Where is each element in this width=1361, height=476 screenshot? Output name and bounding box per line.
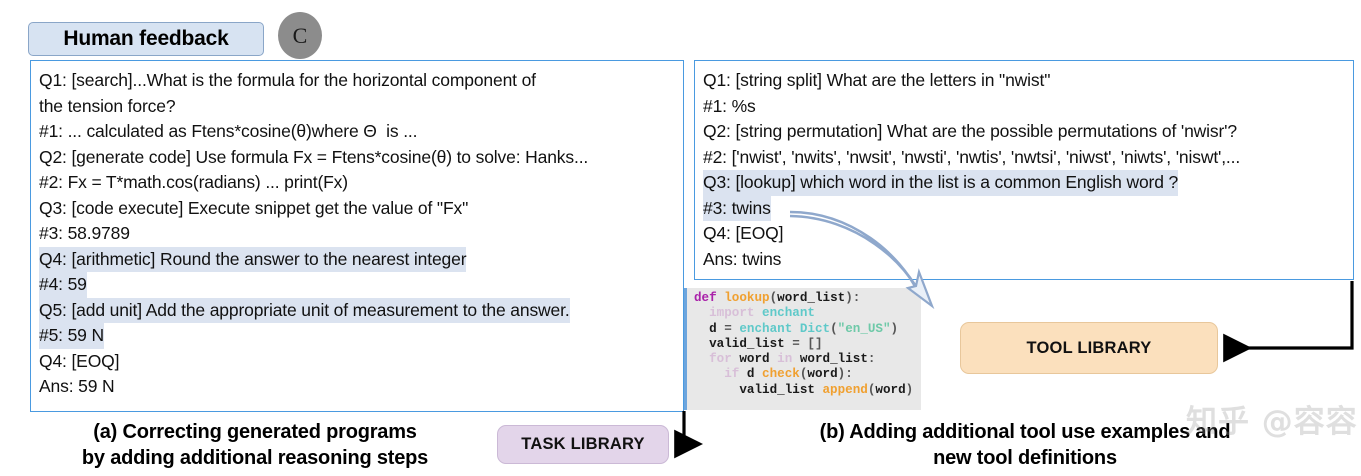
transcript-line: #1: %s: [703, 94, 756, 120]
transcript-line: Q2: [string permutation] What are the po…: [703, 119, 1237, 145]
transcript-line: #5: 59 N: [39, 323, 104, 349]
code-line: valid_list = []: [694, 337, 921, 352]
transcript-line: Q3: [code execute] Execute snippet get t…: [39, 196, 468, 222]
transcript-line: #3: 58.9789: [39, 221, 130, 247]
arrow-to-task-library: [679, 411, 684, 444]
site-watermark: 知乎 @容容: [1186, 396, 1358, 441]
transcript-line: Q1: [string split] What are the letters …: [703, 68, 1050, 94]
code-line: if d check(word):: [694, 367, 921, 382]
human-feedback-badge: Human feedback: [28, 22, 264, 56]
transcript-line: Q3: [lookup] which word in the list is a…: [703, 170, 1178, 196]
caption-a-line2: by adding additional reasoning steps: [30, 445, 480, 471]
code-line: valid_list append(word): [694, 383, 921, 398]
subfigure-marker-label: C: [293, 23, 308, 49]
transcript-line: the tension force?: [39, 94, 175, 120]
transcript-line: #2: ['nwist', 'nwits', 'nwsit', 'nwsti',…: [703, 145, 1240, 171]
transcript-line: Ans: 59 N: [39, 374, 115, 400]
task-library-pill[interactable]: TASK LIBRARY: [497, 425, 669, 464]
task-library-label: TASK LIBRARY: [521, 435, 644, 454]
subfigure-marker-c: C: [278, 12, 322, 59]
code-line: d = enchant Dict("en_US"): [694, 322, 921, 337]
tool-library-label: TOOL LIBRARY: [1027, 339, 1152, 358]
transcript-line: Q4: [EOQ]: [39, 349, 119, 375]
tool-library-pill[interactable]: TOOL LIBRARY: [960, 322, 1218, 374]
transcript-line: #2: Fx = T*math.cos(radians) ... print(F…: [39, 170, 348, 196]
transcript-line: #1: ... calculated as Ftens*cosine(θ)whe…: [39, 119, 417, 145]
human-feedback-label: Human feedback: [63, 27, 228, 51]
code-line: for word in word_list:: [694, 352, 921, 367]
tool-definition-code-block: def lookup(word_list): import enchant d …: [684, 288, 921, 410]
transcript-line: Q4: [EOQ]: [703, 221, 783, 247]
transcript-line: #3: twins: [703, 196, 771, 222]
transcript-line: #4: 59: [39, 272, 87, 298]
transcript-line: Ans: twins: [703, 247, 781, 273]
transcript-line: Q5: [add unit] Add the appropriate unit …: [39, 298, 570, 324]
transcript-line: Q1: [search]...What is the formula for t…: [39, 68, 536, 94]
caption-b-line2: new tool definitions: [740, 445, 1310, 471]
figure-canvas: Human feedback C Q1: [search]...What is …: [0, 0, 1361, 476]
caption-a: (a) Correcting generated programs by add…: [30, 419, 480, 471]
code-line: import enchant: [694, 306, 921, 321]
arrow-to-tool-library: [1228, 281, 1352, 348]
transcript-line: Q4: [arithmetic] Round the answer to the…: [39, 247, 466, 273]
right-transcript-panel: Q1: [string split] What are the letters …: [694, 60, 1354, 280]
left-transcript-panel: Q1: [search]...What is the formula for t…: [30, 60, 684, 412]
code-line: def lookup(word_list):: [694, 291, 921, 306]
caption-a-line1: (a) Correcting generated programs: [30, 419, 480, 445]
transcript-line: Q2: [generate code] Use formula Fx = Fte…: [39, 145, 588, 171]
